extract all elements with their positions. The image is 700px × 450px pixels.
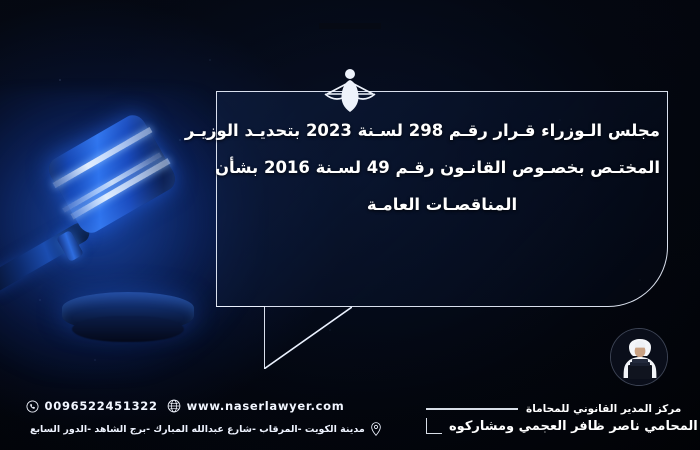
address-text: مدينة الكويت -المرقاب -شارع عبدالله المب…: [30, 424, 365, 435]
advocate-line: المحامي ناصر ظافر العجمي ومشاركوه: [426, 418, 698, 434]
whatsapp-phone-icon: [26, 400, 39, 413]
bubble-tail-shoulder: [216, 306, 265, 307]
headline-text: مجلس الـوزراء قـرار رقـم 298 لسـنة 2023 …: [224, 112, 660, 223]
gavel-sound-block: [62, 292, 194, 332]
firm-line: مركز المدير القانوني للمحاماة: [426, 403, 681, 415]
website-contact[interactable]: www.naserlawyer.com: [167, 399, 345, 413]
avatar: [610, 328, 668, 386]
address-row: مدينة الكويت -المرقاب -شارع عبدالله المب…: [30, 422, 340, 436]
bracket-decoration: [426, 418, 442, 434]
headline-line-2: المختـص بخصـوص القانـون رقـم 49 لسـنة 20…: [224, 149, 660, 186]
gavel-head: [44, 111, 180, 238]
poster-canvas: مجلس الـوزراء قـرار رقـم 298 لسـنة 2023 …: [0, 0, 700, 450]
gavel-sound-block-base: [72, 316, 184, 342]
website-url: www.naserlawyer.com: [187, 399, 345, 413]
gavel-handle: [0, 219, 93, 296]
phone-number: 0096522451322: [45, 399, 158, 413]
bubble-tail-vertical: [264, 307, 265, 369]
gavel-collar: [56, 230, 84, 262]
location-pin-icon: [370, 422, 382, 436]
firm-divider: [426, 408, 518, 409]
advocate-name: المحامي ناصر ظافر العجمي ومشاركوه: [449, 419, 698, 434]
scales-of-justice-icon: [315, 66, 385, 112]
headline-line-1: مجلس الـوزراء قـرار رقـم 298 لسـنة 2023 …: [224, 112, 660, 149]
footer-contact-block: 0096522451322 www.naserlawyer.com: [30, 399, 340, 436]
logo-border-mask: [319, 23, 381, 29]
headline-line-3: المناقصـات العامـة: [224, 186, 660, 223]
bubble-tail-diagonal: [264, 307, 352, 369]
contact-row: 0096522451322 www.naserlawyer.com: [30, 399, 340, 413]
globe-icon: [167, 399, 181, 413]
gavel-band: [62, 152, 161, 212]
phone-contact[interactable]: 0096522451322: [26, 399, 158, 413]
firm-name: مركز المدير القانوني للمحاماة: [526, 403, 681, 415]
footer-brand-block: مركز المدير القانوني للمحاماة المحامي نا…: [426, 403, 676, 434]
